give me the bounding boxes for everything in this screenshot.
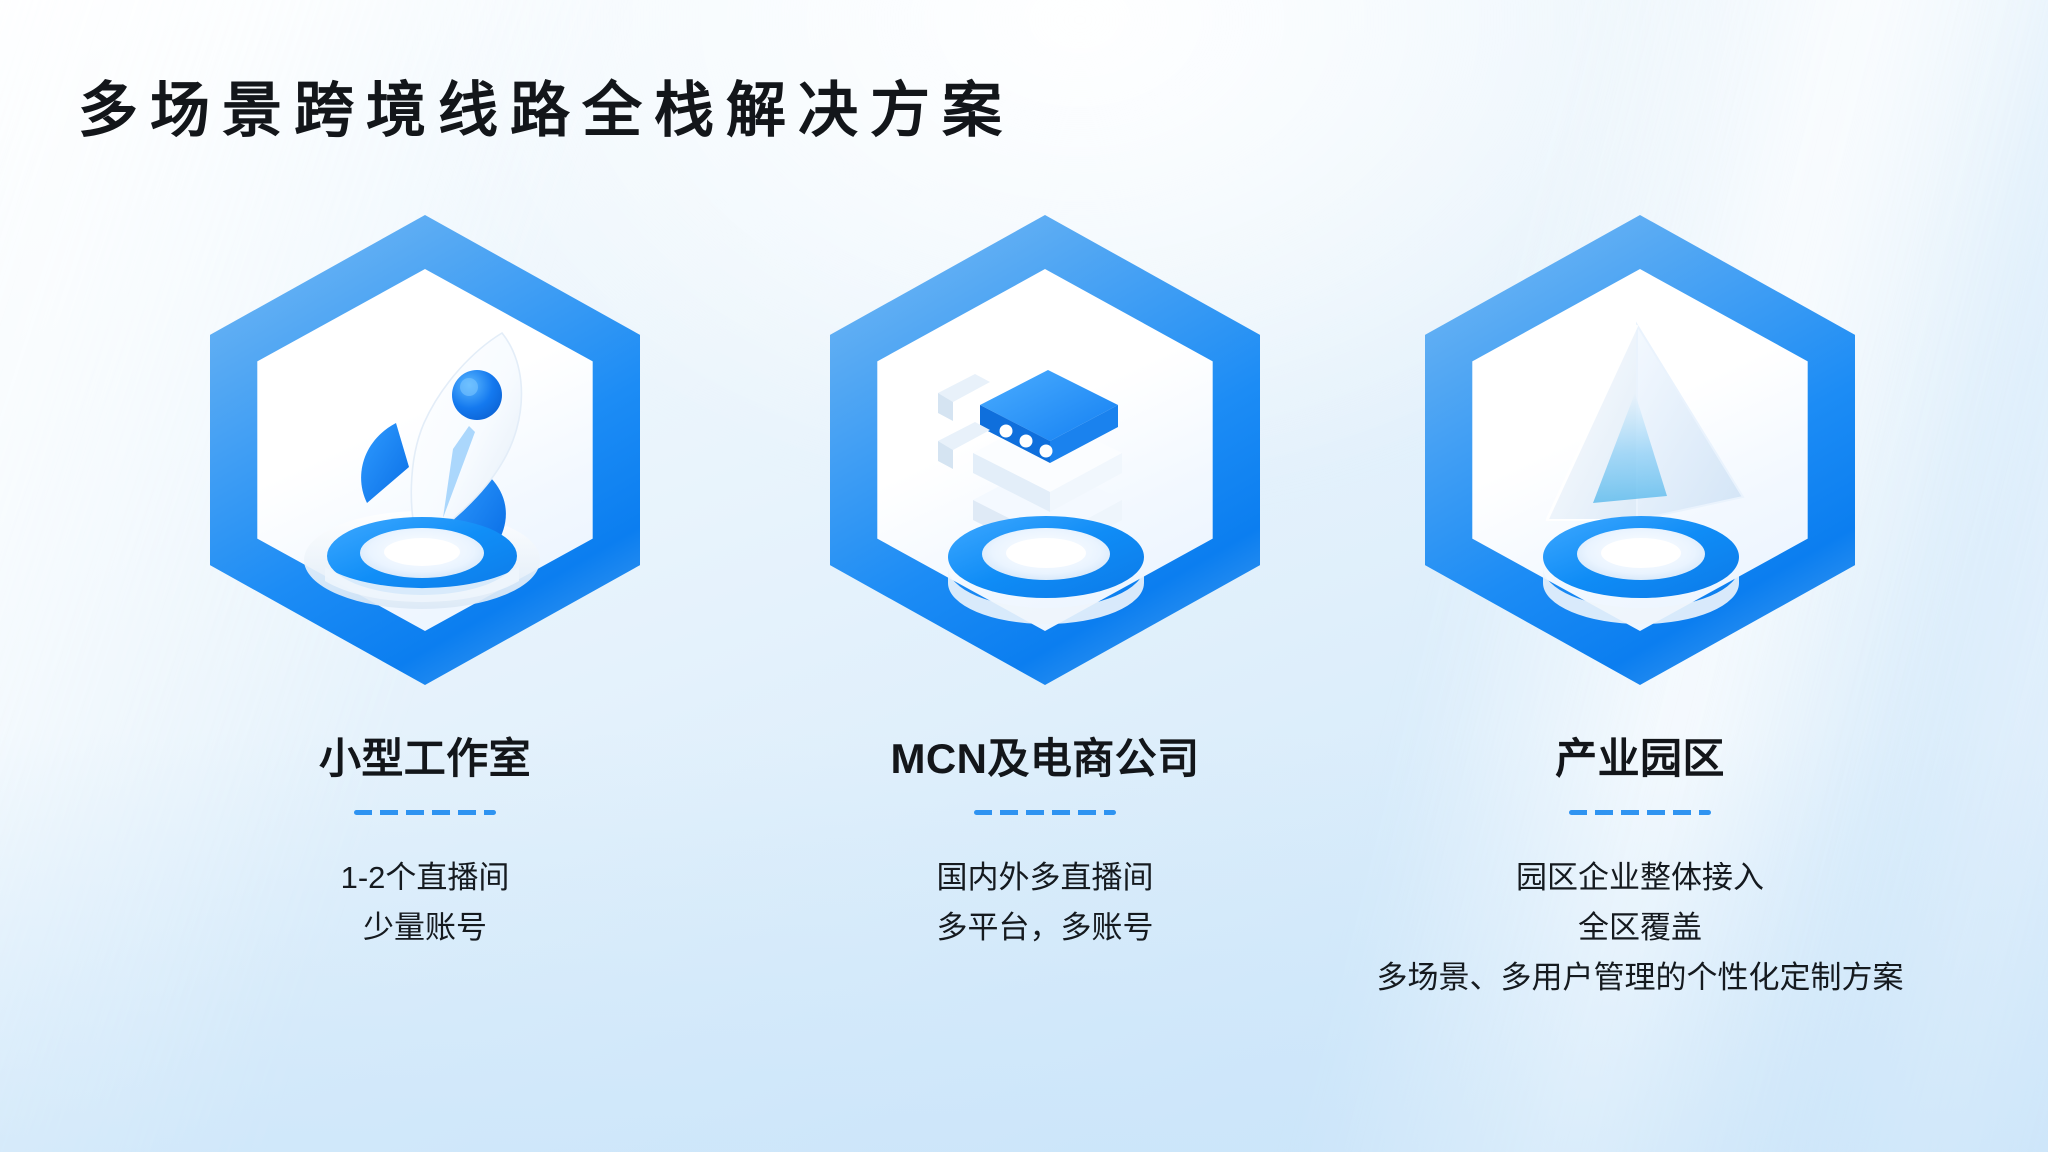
scenario-card-industrial-park: 产业园区 园区企业整体接入 全区覆盖 多场景、多用户管理的个性化定制方案	[1320, 215, 1960, 1004]
card-title: 小型工作室	[105, 725, 745, 786]
pyramid-icon-hexagon	[1425, 215, 1855, 685]
card-line: 园区企业整体接入	[1260, 853, 2020, 903]
scenario-card-small-studio: 小型工作室 1-2个直播间 少量账号	[105, 215, 745, 953]
card-line: 多场景、多用户管理的个性化定制方案	[1260, 953, 2020, 1003]
card-divider	[354, 810, 496, 815]
card-description: 1-2个直播间 少量账号	[105, 853, 745, 953]
scenario-card-mcn-ecommerce: MCN及电商公司 国内外多直播间 多平台，多账号	[725, 215, 1365, 953]
rocket-icon	[210, 215, 640, 685]
card-line: 少量账号	[105, 903, 745, 953]
card-line: 1-2个直播间	[105, 853, 745, 903]
rocket-icon-hexagon	[210, 215, 640, 685]
card-divider	[974, 810, 1116, 815]
pyramid-icon	[1425, 215, 1855, 685]
card-description: 园区企业整体接入 全区覆盖 多场景、多用户管理的个性化定制方案	[1260, 853, 2020, 1004]
card-line: 全区覆盖	[1260, 903, 2020, 953]
card-divider	[1569, 810, 1711, 815]
card-title: MCN及电商公司	[725, 725, 1365, 786]
card-title: 产业园区	[1320, 725, 1960, 786]
server-stack-icon	[830, 215, 1260, 685]
server-stack-icon-hexagon	[830, 215, 1260, 685]
page-title: 多场景跨境线路全栈解决方案	[78, 62, 1014, 149]
